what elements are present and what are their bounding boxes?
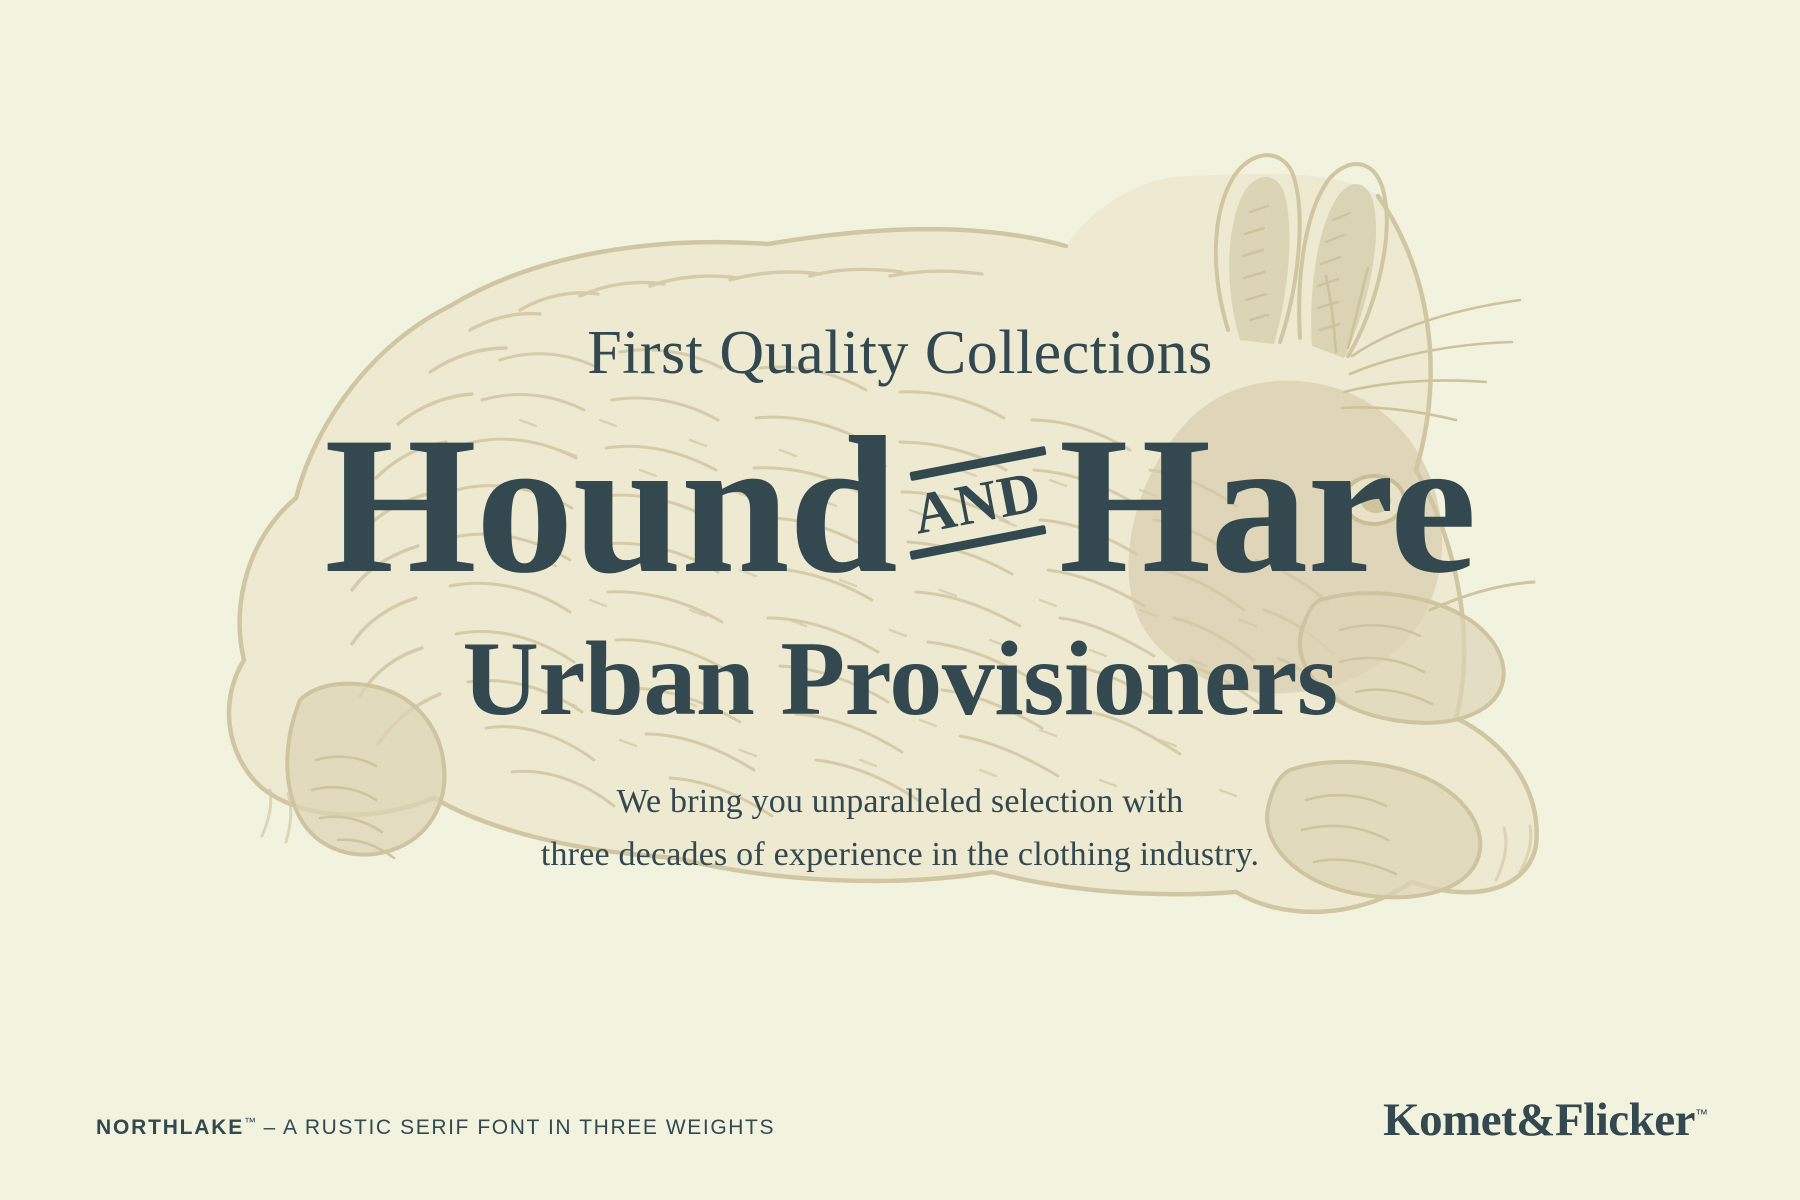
foundry-name-label: Komet&Flicker	[1383, 1094, 1695, 1146]
headline-word-hound: Hound	[324, 408, 896, 604]
and-conjunction-block: AND	[903, 428, 1053, 578]
hero-lockup: First Quality Collections Hound AND Hare…	[0, 0, 1800, 1200]
font-specimen-poster: First Quality Collections Hound AND Hare…	[0, 0, 1800, 1200]
blurb-line-2: three decades of experience in the cloth…	[541, 829, 1259, 882]
font-description-label: – A RUSTIC SERIF FONT IN THREE WEIGHTS	[263, 1116, 775, 1139]
headline-word-hare: Hare	[1059, 408, 1476, 604]
headline: Hound AND Hare	[324, 408, 1475, 604]
trademark-symbol: ™	[244, 1115, 256, 1129]
font-name-label: NORTHLAKE	[96, 1116, 244, 1139]
foundry-trademark-symbol: ™	[1695, 1106, 1708, 1121]
hero-blurb: We bring you unparalleled selection with…	[541, 776, 1259, 881]
eyebrow-text: First Quality Collections	[587, 322, 1213, 384]
blurb-line-1: We bring you unparalleled selection with	[541, 776, 1259, 829]
subheadline-text: Urban Provisioners	[462, 626, 1337, 732]
foundry-logo: Komet&Flicker™	[1383, 1097, 1708, 1144]
font-credit: NORTHLAKE™ – A RUSTIC SERIF FONT IN THRE…	[96, 1115, 775, 1140]
